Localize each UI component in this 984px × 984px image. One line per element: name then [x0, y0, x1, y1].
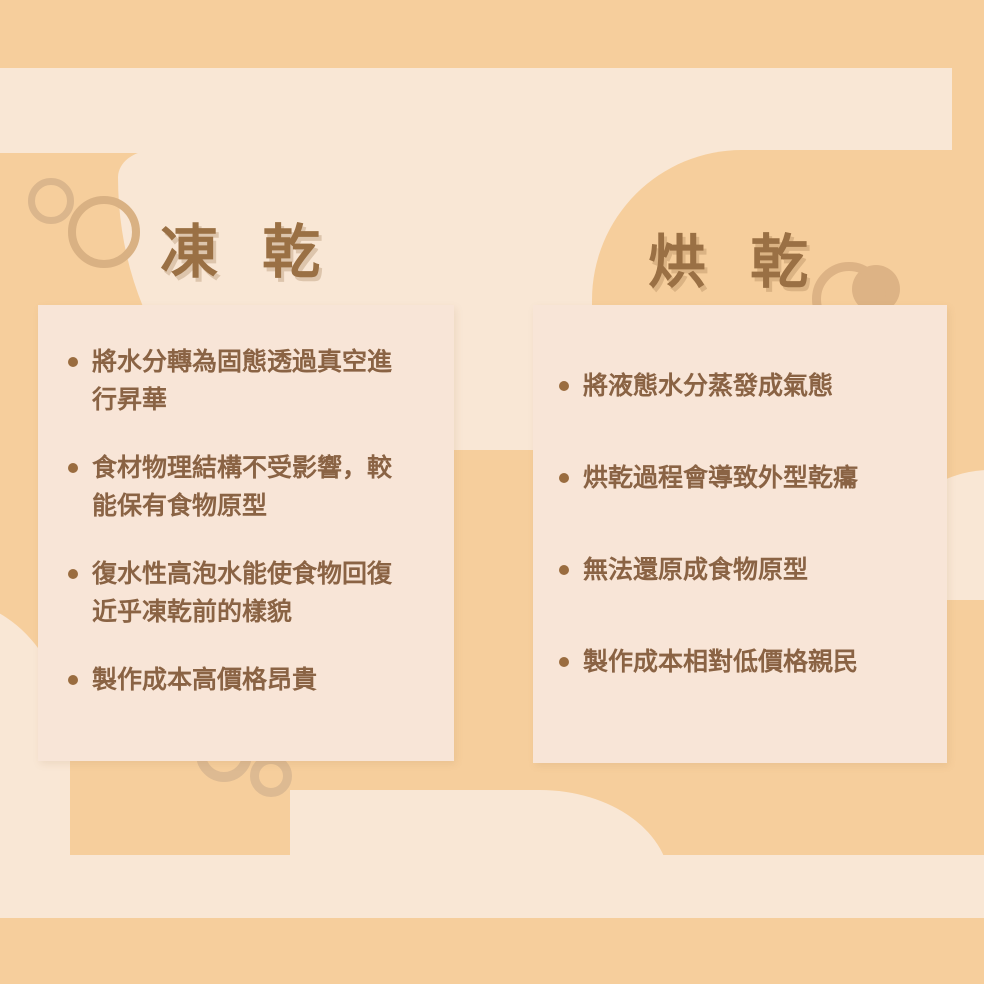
column-title-hot-air-dry: 烘 乾 [648, 215, 822, 299]
bullet-list-freeze-dry: 將水分轉為固態透過真空進行昇華 食材物理結構不受影響，較能保有食物原型 復水性高… [38, 305, 454, 729]
list-item: 將水分轉為固態透過真空進行昇華 [68, 343, 430, 419]
bullet-text: 製作成本相對低價格親民 [583, 643, 929, 681]
background-top-orange-band [0, 0, 984, 68]
column-title-freeze-dry: 凍 乾 [160, 205, 334, 289]
list-item: 食材物理結構不受影響，較能保有食物原型 [68, 449, 430, 525]
poster-root: 凍 乾 烘 乾 將水分轉為固態透過真空進行昇華 食材物理結構不受影響，較能保有食… [0, 0, 984, 984]
ring-bottom-left-small-icon [250, 755, 292, 797]
list-item: 無法還原成食物原型 [559, 551, 929, 589]
background-bottom-orange-band [0, 918, 984, 984]
list-item: 將液態水分蒸發成氣態 [559, 367, 929, 405]
bullet-marker-icon [68, 675, 78, 685]
card-hot-air-dry: 將液態水分蒸發成氣態 烘乾過程會導致外型乾癟 無法還原成食物原型 製作成本相對低… [533, 305, 947, 763]
bullet-marker-icon [68, 357, 78, 367]
bullet-text: 製作成本高價格昂貴 [92, 661, 404, 699]
bullet-text: 將液態水分蒸發成氣態 [583, 367, 929, 405]
bullet-marker-icon [559, 381, 569, 391]
card-freeze-dry: 將水分轉為固態透過真空進行昇華 食材物理結構不受影響，較能保有食物原型 復水性高… [38, 305, 454, 761]
bullet-text: 食材物理結構不受影響，較能保有食物原型 [92, 449, 404, 525]
background-top-cream-band [0, 68, 952, 153]
ring-top-left-large-icon [68, 196, 140, 268]
bullet-text: 將水分轉為固態透過真空進行昇華 [92, 343, 404, 419]
bullet-text: 無法還原成食物原型 [583, 551, 929, 589]
ring-top-left-small-icon [28, 178, 74, 224]
list-item: 烘乾過程會導致外型乾癟 [559, 459, 929, 497]
list-item: 復水性高泡水能使食物回復近乎凍乾前的樣貌 [68, 555, 430, 631]
bullet-marker-icon [559, 473, 569, 483]
bullet-text: 復水性高泡水能使食物回復近乎凍乾前的樣貌 [92, 555, 404, 631]
list-item: 製作成本相對低價格親民 [559, 643, 929, 681]
bullet-list-hot-air-dry: 將液態水分蒸發成氣態 烘乾過程會導致外型乾癟 無法還原成食物原型 製作成本相對低… [533, 305, 947, 735]
bullet-marker-icon [559, 565, 569, 575]
background-bottom-notch [290, 790, 670, 900]
background-top-right-sliver [952, 68, 984, 153]
list-item: 製作成本高價格昂貴 [68, 661, 430, 699]
bullet-marker-icon [559, 657, 569, 667]
bullet-text: 烘乾過程會導致外型乾癟 [583, 459, 929, 497]
bullet-marker-icon [68, 463, 78, 473]
bullet-marker-icon [68, 569, 78, 579]
